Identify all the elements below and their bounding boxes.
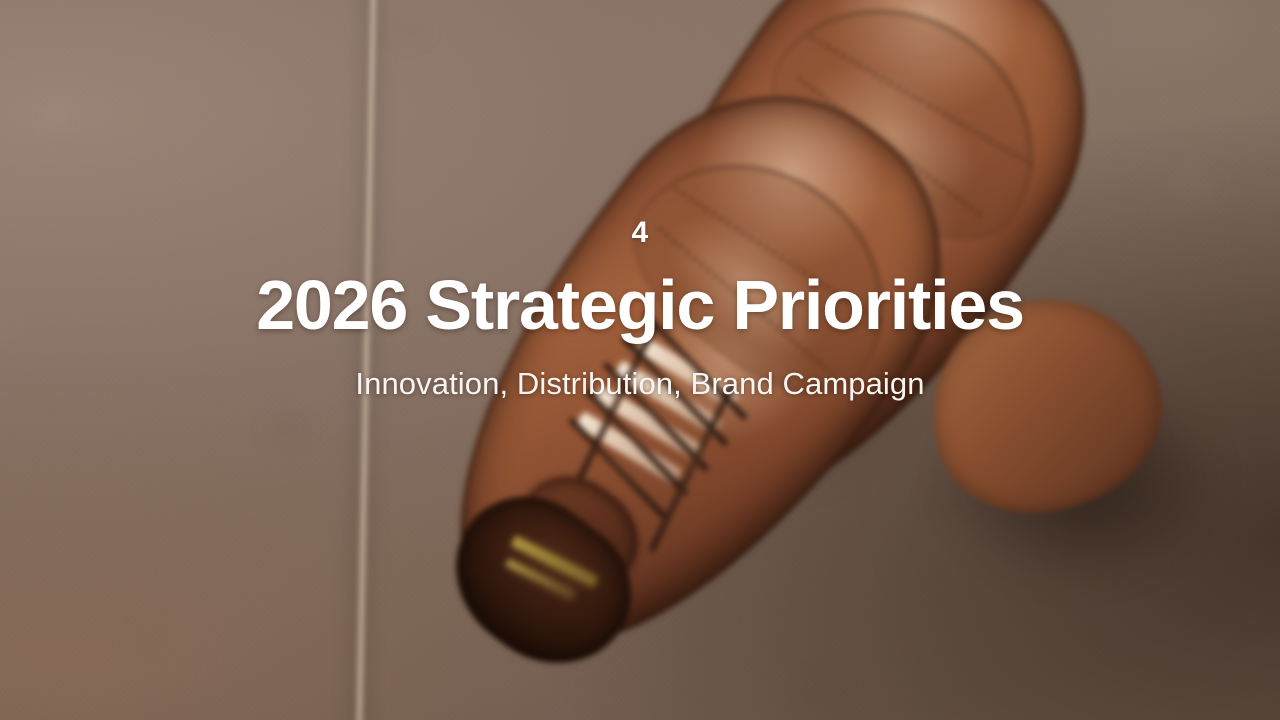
- slide-text-layer: 4 2026 Strategic Priorities Innovation, …: [0, 0, 1280, 720]
- slide-number: 4: [632, 218, 649, 248]
- slide-subtitle: Innovation, Distribution, Brand Campaign: [355, 367, 924, 401]
- presentation-slide: 4 2026 Strategic Priorities Innovation, …: [0, 0, 1280, 720]
- slide-title: 2026 Strategic Priorities: [256, 270, 1024, 341]
